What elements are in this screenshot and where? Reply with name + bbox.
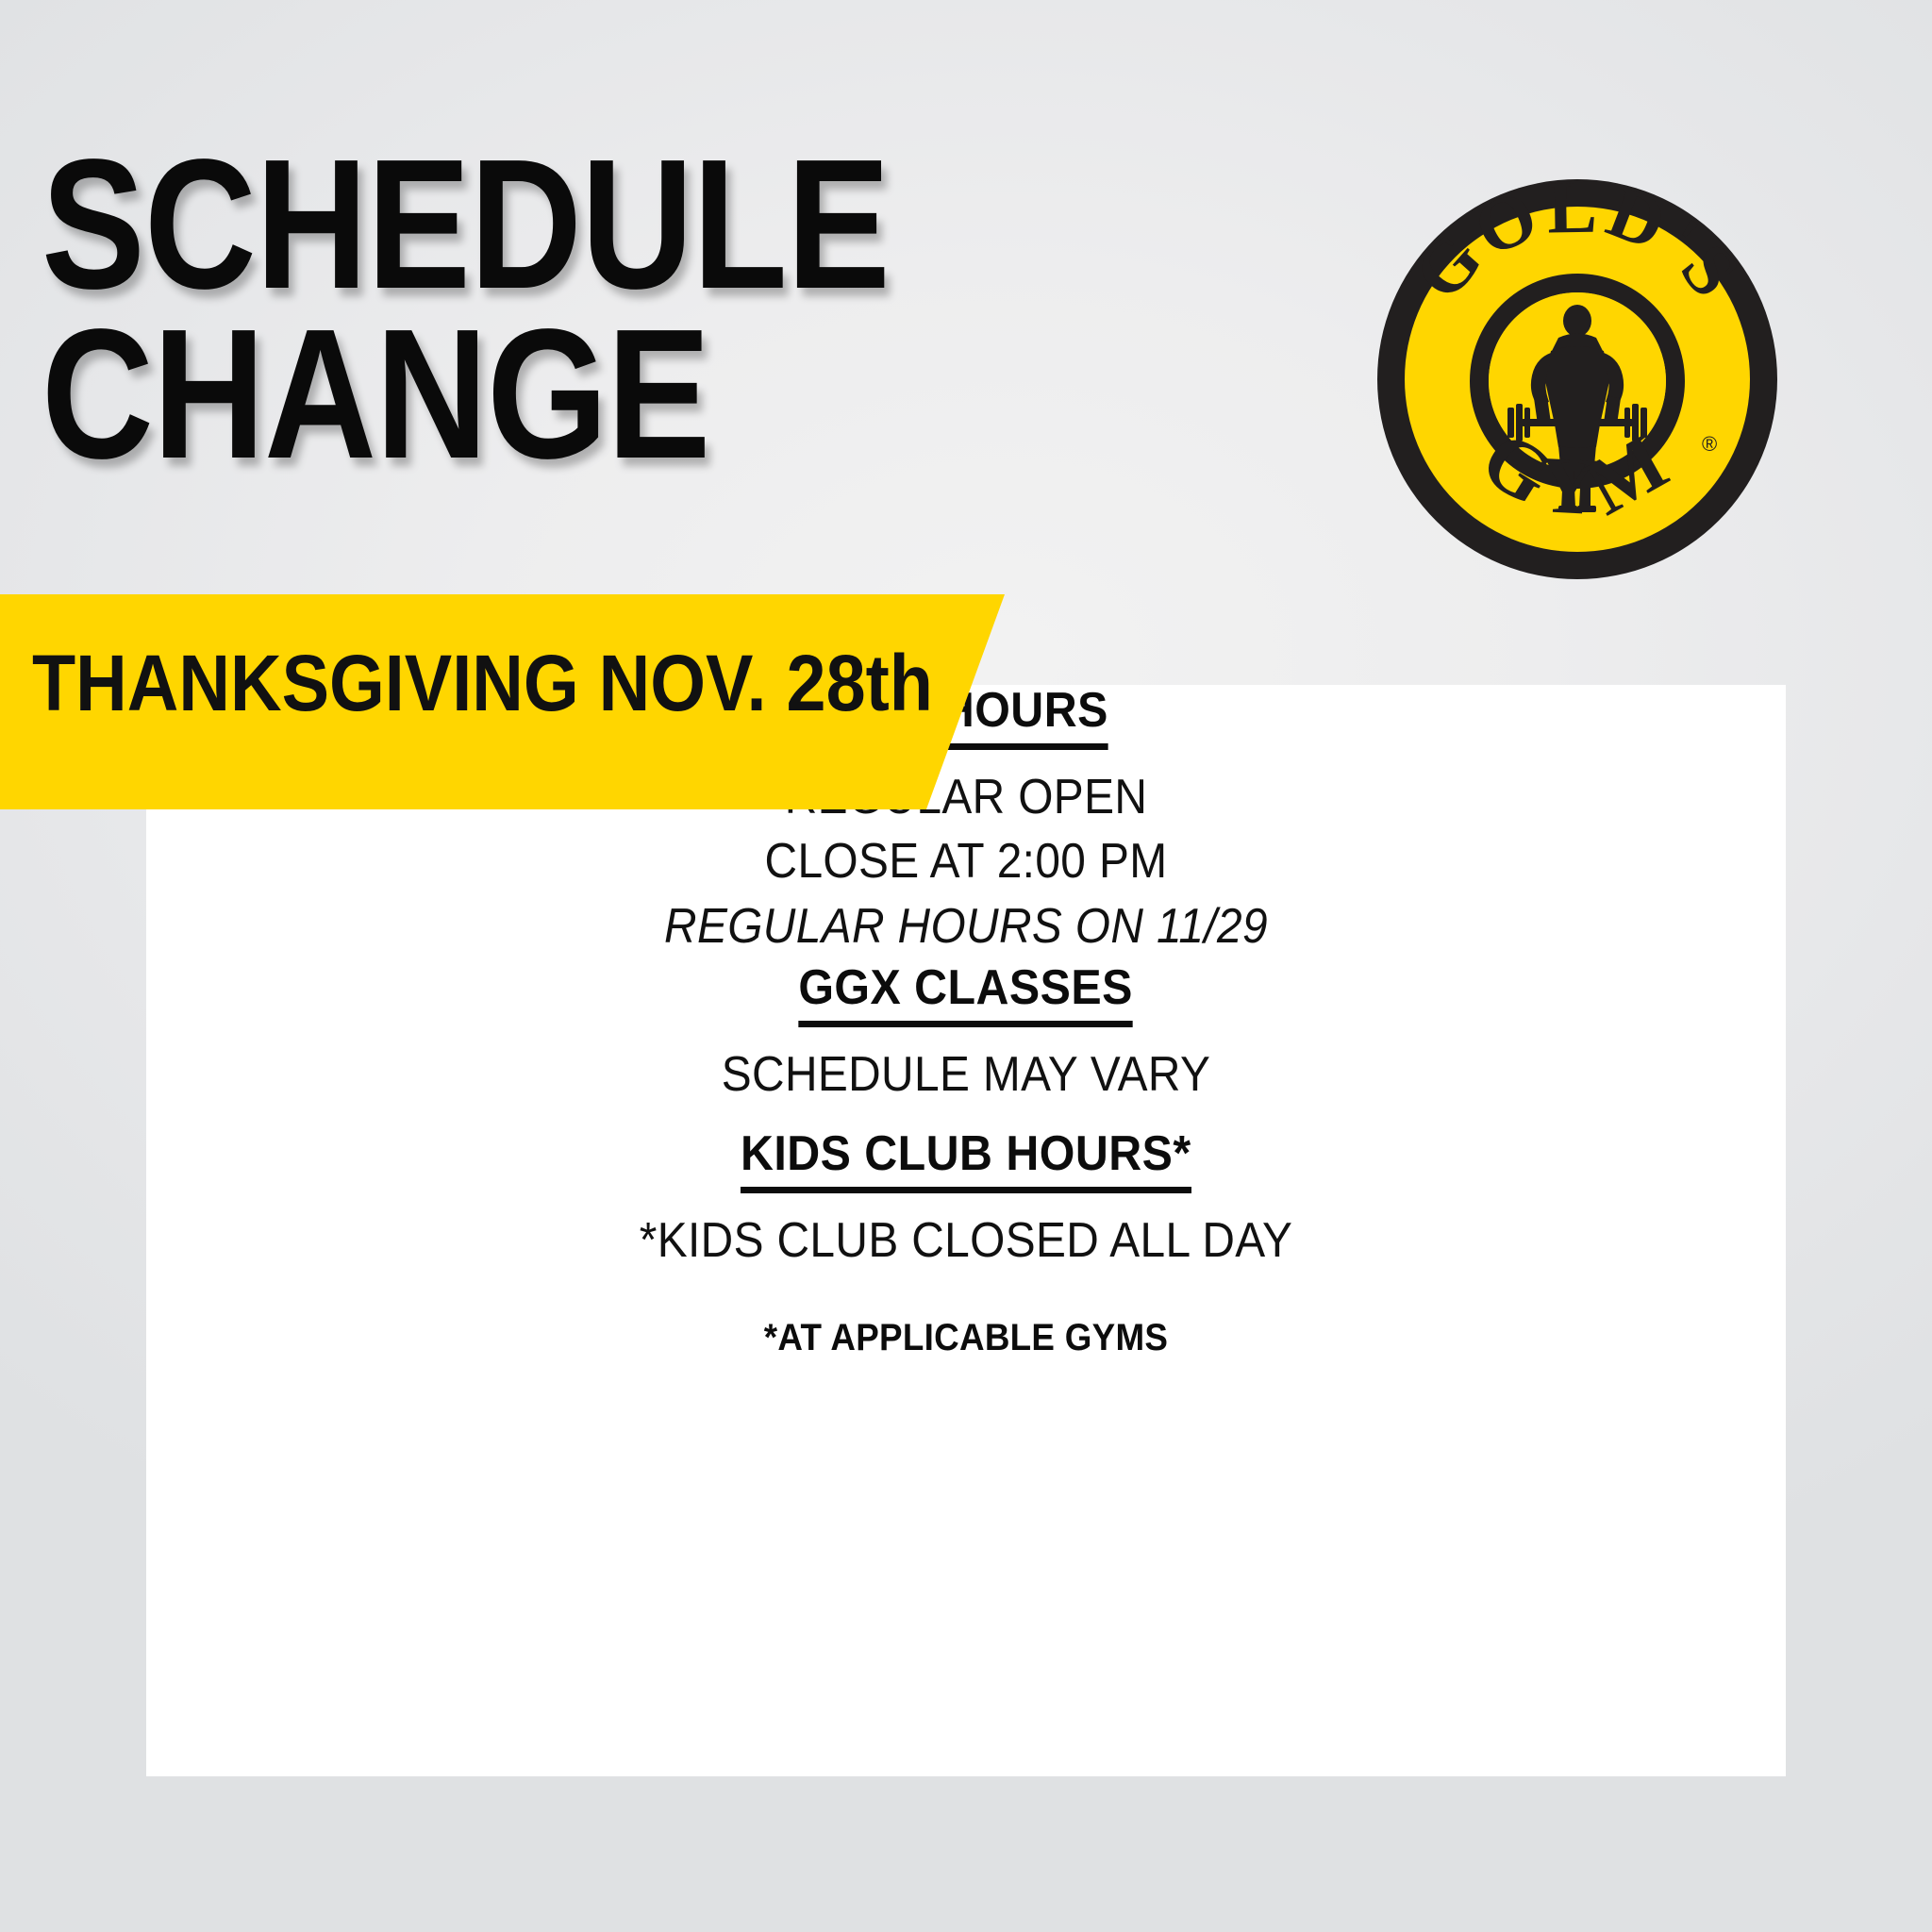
section-line: REGULAR HOURS ON 11/29 <box>212 894 1721 959</box>
details-card: GYM HOURS REGULAR OPEN CLOSE AT 2:00 PM … <box>146 685 1786 1776</box>
banner-label: THANKSGIVING NOV. 28th <box>32 643 933 723</box>
golds-gym-logo-icon: GOLD'S GYM ® <box>1370 172 1785 587</box>
footnote-block: *AT APPLICABLE GYMS <box>146 1317 1786 1359</box>
thanksgiving-banner: THANKSGIVING NOV. 28th <box>0 594 1005 809</box>
headline-line-1: SCHEDULE <box>42 140 1072 309</box>
page-title: SCHEDULE CHANGE <box>42 140 1072 480</box>
section-ggx-classes: GGX CLASSES SCHEDULE MAY VARY <box>146 962 1786 1107</box>
section-heading: KIDS CLUB HOURS* <box>741 1128 1191 1193</box>
headline-line-2: CHANGE <box>42 309 1072 479</box>
schedule-change-poster: SCHEDULE CHANGE <box>0 0 1932 1932</box>
section-line: SCHEDULE MAY VARY <box>212 1042 1721 1108</box>
section-line: CLOSE AT 2:00 PM <box>212 829 1721 894</box>
footnote-text: *AT APPLICABLE GYMS <box>212 1317 1721 1359</box>
section-line: *KIDS CLUB CLOSED ALL DAY <box>212 1208 1721 1274</box>
registered-trademark-icon: ® <box>1702 432 1717 456</box>
section-kids-club-hours: KIDS CLUB HOURS* *KIDS CLUB CLOSED ALL D… <box>146 1128 1786 1273</box>
section-heading: GGX CLASSES <box>799 962 1133 1027</box>
